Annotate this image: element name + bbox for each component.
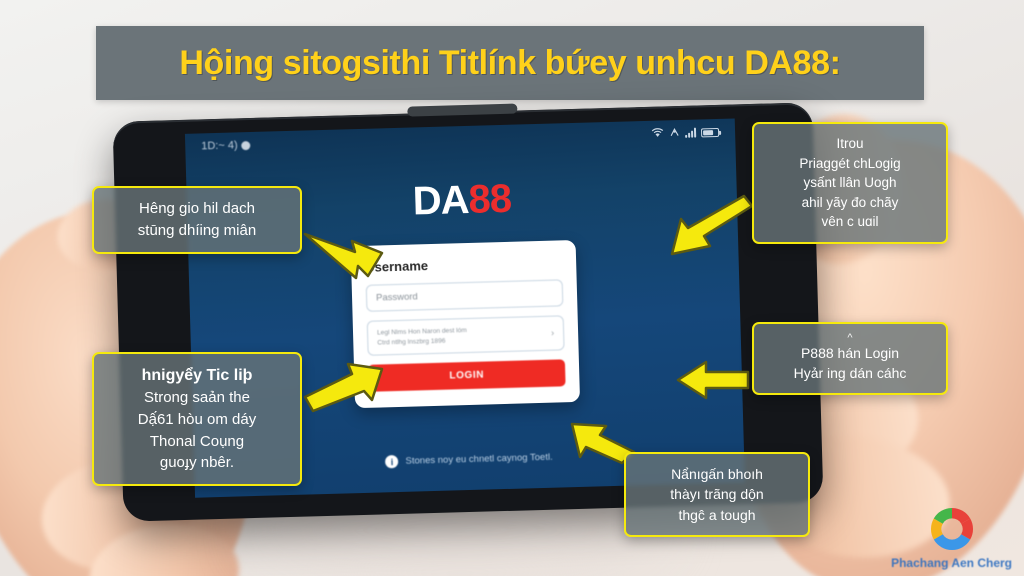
screen-footer-text: Stones noy eu chnetl caynog Toetl. [405, 452, 552, 467]
callout-top-left: Hêng gio hil dach stūng dhíing miân [92, 186, 302, 254]
page-title: Hộing sitogsithi Titlínk bứey unhcu DA88… [179, 44, 840, 83]
battery-icon [701, 127, 719, 136]
watermark: Phachang Aen Cherg [891, 503, 1012, 570]
watermark-text: Phachang Aen Cherg [891, 556, 1012, 570]
notice-select[interactable]: Legl Nlms Hon Naron dest lóm Ctrd ntlhg … [367, 315, 565, 356]
callout-line: P888 hán Login [766, 343, 934, 363]
callout-line: stūng dhíing miân [106, 220, 288, 242]
notice-line-2: Ctrd ntlhg lnszbrg 1896 [377, 336, 467, 348]
callout-line: guoɟy nbêr. [106, 452, 288, 474]
wifi-icon [651, 127, 664, 140]
signal-alt-icon [669, 127, 680, 140]
callout-line: ahil yãy đo chãy [766, 193, 934, 213]
callout-top-right: Itrou Priaggét chLogig ysấnt llân Uogh a… [752, 122, 948, 244]
dot-icon [242, 141, 251, 150]
chevron-right-icon: › [551, 327, 554, 340]
callout-heading: hnigyểy Tic liþ [106, 364, 288, 387]
status-time-text: 1D:~ 4) [201, 139, 238, 152]
callout-line: Hêng gio hil dach [106, 198, 288, 220]
signal-bars-icon [685, 128, 696, 138]
caret-icon: ^ [766, 334, 934, 343]
title-banner: Hộing sitogsithi Titlínk bứey unhcu DA88… [96, 26, 924, 100]
phone-speaker [407, 104, 517, 117]
info-icon: i [385, 455, 398, 468]
callout-line: Priaggét chLogig [766, 154, 934, 174]
status-bar-right [651, 125, 719, 140]
username-label: Username [365, 254, 562, 274]
callout-line: Hyảr ing dán cáhc [766, 363, 934, 383]
brand-part-2: 88 [468, 177, 512, 222]
callout-line: ysấnt llân Uogh [766, 173, 934, 193]
callout-line: thgĉ a tough [638, 505, 796, 525]
callout-line: Itrou [766, 134, 934, 154]
status-bar-left: 1D:~ 4) [201, 139, 251, 152]
notice-lines: Legl Nlms Hon Naron dest lóm Ctrd ntlhg … [377, 326, 467, 348]
callout-bottom-right: Nẩnıgấn bhoıh thàyı trãng dộn thgĉ a tou… [624, 452, 810, 537]
callout-line: Thonal Coụng [106, 431, 288, 453]
callout-mid-right: ^ P888 hán Login Hyảr ing dán cáhc [752, 322, 948, 395]
login-button[interactable]: LOGIN [368, 359, 566, 391]
status-bar: 1D:~ 4) [185, 118, 736, 159]
callout-line: vên c uɑil [766, 212, 934, 232]
password-input[interactable]: Password [366, 279, 564, 311]
screenshot-root: Hộing sitogsithi Titlínk bứey unhcu DA88… [0, 0, 1024, 576]
callout-line: Strong saản the [106, 387, 288, 409]
brand-part-1: DA [412, 178, 469, 224]
callout-line: Nẩnıgấn bhoıh [638, 464, 796, 484]
login-card: Username Password Legl Nlms Hon Naron de… [351, 240, 580, 408]
password-placeholder-text: Password [376, 291, 418, 303]
callout-line: Dậ́61 hòu om dáy [106, 409, 288, 431]
callout-bottom-left: hnigyểy Tic liþ Strong saản the Dậ́61 hò… [92, 352, 302, 486]
pinwheel-logo-icon [926, 503, 978, 555]
callout-line: thàyı trãng dộn [638, 484, 796, 504]
